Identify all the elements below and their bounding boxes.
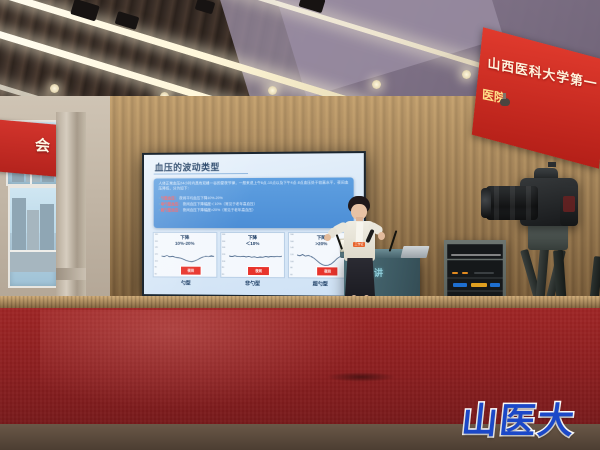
y-tick: 140 [222, 247, 229, 249]
telephoto-lens [486, 186, 538, 220]
rack-led [474, 272, 494, 274]
banner-left: 会 [0, 119, 56, 176]
building-low [10, 250, 56, 272]
bullet-key: 非勺型血压： [161, 202, 182, 206]
rack-unit-processor [447, 260, 503, 278]
speaker-badge: 工作证 [353, 242, 365, 247]
y-axis-ticks: 180 160 140 120 100 80 60 [222, 234, 229, 276]
camera-grip-accent [563, 196, 575, 212]
conference-photo: 会 山西医科大学第一 医院 血压的波动类型 人体正常血压24小时内具有双峰一谷的… [0, 0, 600, 450]
rack-unit-mixer [447, 244, 503, 259]
security-camera-icon [500, 98, 510, 106]
ceiling-downlight [50, 84, 59, 93]
bullet-text: 夜间血压下降幅度>20%（常见于老年高血压） [183, 208, 256, 212]
carpet-light-sheen [40, 310, 370, 410]
window-main [8, 186, 58, 288]
rack-led [452, 272, 458, 274]
y-tick: 60 [222, 274, 229, 276]
chart-panel-dipper: 下降 10%-20% 180 160 140 120 100 80 60 [153, 232, 217, 278]
ceiling-downlight [268, 86, 277, 95]
curtain-tieback [56, 268, 86, 280]
chart-panel-nondipper: 下降 ＜10% 180 160 140 120 100 80 60 [220, 232, 285, 278]
y-tick: 160 [155, 240, 162, 242]
y-axis-ticks: 180 160 140 120 100 80 60 [155, 234, 162, 276]
y-tick: 120 [222, 254, 229, 256]
slide-title: 血压的波动类型 [155, 160, 220, 173]
panel-label-dipper: 勺型 [153, 279, 219, 286]
slide-lead-text: 人体正常血压24小时内具有双峰一谷的昼夜节律，一般来说上午6点-10点以及下午4… [159, 181, 349, 193]
y-tick: 180 [290, 234, 297, 236]
lens-zoom-ring [510, 186, 515, 220]
y-tick: 180 [222, 234, 229, 236]
rack-unit-amp [447, 278, 503, 291]
y-axis-ticks: 180 160 140 120 100 80 60 [290, 234, 297, 276]
panel-label-nondipper: 非勺型 [219, 280, 286, 287]
ceiling-vent [195, 0, 216, 14]
y-tick: 140 [155, 247, 162, 249]
bullet-text: 夜间平均血压下降10%-20% [179, 196, 223, 200]
speaker-left-hand [324, 234, 331, 241]
lens-ring [526, 186, 531, 220]
camera-hotshoe [548, 162, 556, 167]
slide-bullet-item: · 超勺型血压： 夜间血压下降幅度>20%（常见于老年高血压） [159, 207, 349, 214]
title-underline [154, 173, 248, 175]
tripod-head [528, 224, 568, 250]
bullet-text: 夜间血压下降幅度＜10%（常见于老年高血压） [183, 202, 258, 206]
y-tick: 80 [155, 267, 162, 269]
window-mullion [10, 250, 56, 252]
speaker-shadow [326, 372, 396, 382]
ceiling-downlight [372, 80, 381, 89]
speaker-right-hand [378, 232, 385, 240]
y-tick: 100 [155, 260, 162, 262]
y-tick: 80 [222, 267, 229, 269]
y-tick: 80 [290, 267, 297, 269]
slide-bullet-list: · 勺型血压： 夜间平均血压下降10%-20% · 非勺型血压： 夜间血压下降幅… [159, 194, 349, 213]
y-tick: 100 [222, 260, 229, 262]
bullet-key: 超勺型血压： [161, 208, 182, 212]
laptop [401, 246, 430, 258]
rack-led [490, 283, 500, 287]
speaker-lapel [356, 222, 364, 244]
ceiling-downlight [462, 70, 471, 79]
rack-led [453, 283, 467, 287]
y-tick: 160 [222, 241, 229, 243]
y-tick: 120 [155, 254, 162, 256]
rack-led [462, 272, 468, 274]
building [12, 198, 26, 258]
y-tick: 60 [290, 274, 297, 276]
lens-front-element [481, 188, 491, 218]
rack-led [471, 283, 487, 287]
banner-left-text: 会 [31, 136, 52, 154]
banner-right-line1: 山西医科大学第一 [487, 55, 598, 93]
rack-led-row [451, 254, 501, 256]
night-period-tag: 夜间 [180, 266, 202, 276]
lens-focus-ring [494, 186, 499, 220]
speaker-badge-text: 工作证 [353, 242, 365, 247]
speaker-skirt [345, 258, 375, 296]
bullet-key: 勺型血压： [161, 196, 179, 200]
y-tick: 160 [290, 241, 297, 243]
night-period-tag: 夜间 [247, 266, 269, 276]
y-tick: 180 [155, 234, 162, 236]
y-tick: 100 [290, 261, 297, 263]
y-tick: 120 [290, 254, 297, 256]
y-tick: 140 [290, 247, 297, 249]
watermark-logo: 山医大 [459, 392, 578, 444]
y-tick: 60 [155, 273, 162, 275]
